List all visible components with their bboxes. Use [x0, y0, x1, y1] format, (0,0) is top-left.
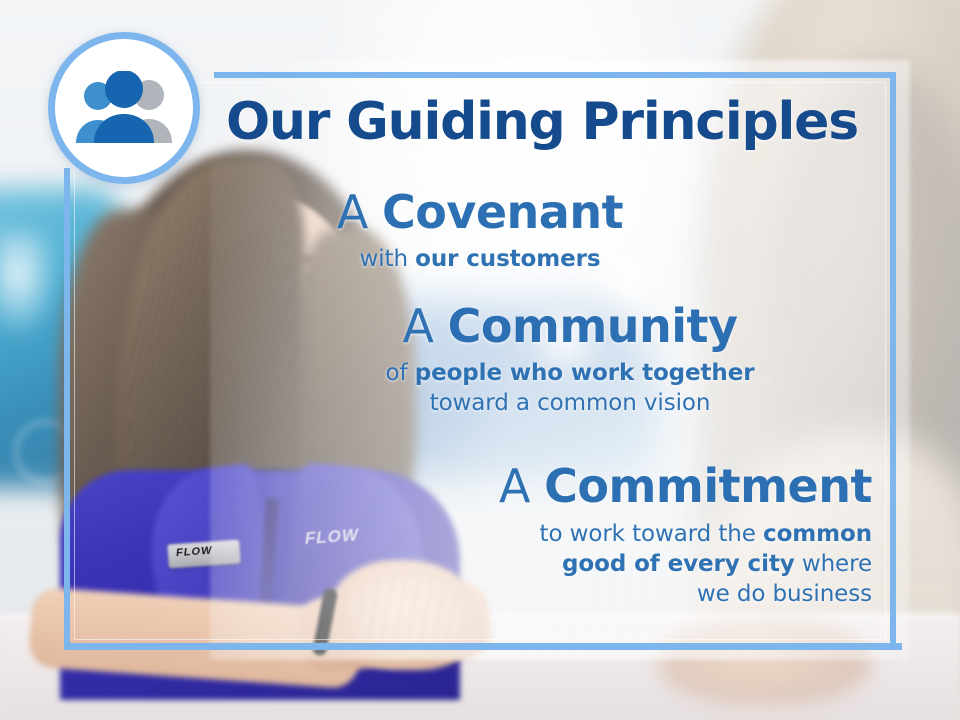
page-title: Our Guiding Principles [212, 96, 872, 149]
principle-sub-covenant: with our customers [240, 245, 720, 275]
principle-title-covenant: A Covenant [240, 188, 720, 236]
principle-title-commitment: A Commitment [400, 462, 872, 510]
principle-block-community: A Community of people who work togethert… [330, 302, 810, 419]
customer-hand [660, 620, 870, 705]
car-highlight [0, 230, 60, 340]
people-group-icon [70, 71, 178, 145]
principle-sub-commitment: to work toward the commongood of every c… [400, 520, 872, 610]
poster-canvas: FLOW FLOW [0, 0, 960, 720]
polo-brand-logo: FLOW [304, 526, 360, 547]
principle-sub-community: of people who work togethertoward a comm… [330, 359, 810, 419]
people-group-icon-badge [48, 32, 200, 184]
principle-block-commitment: A Commitment to work toward the commongo… [400, 462, 872, 610]
principle-title-community: A Community [330, 302, 810, 350]
principle-block-covenant: A Covenant with our customers [240, 188, 720, 275]
